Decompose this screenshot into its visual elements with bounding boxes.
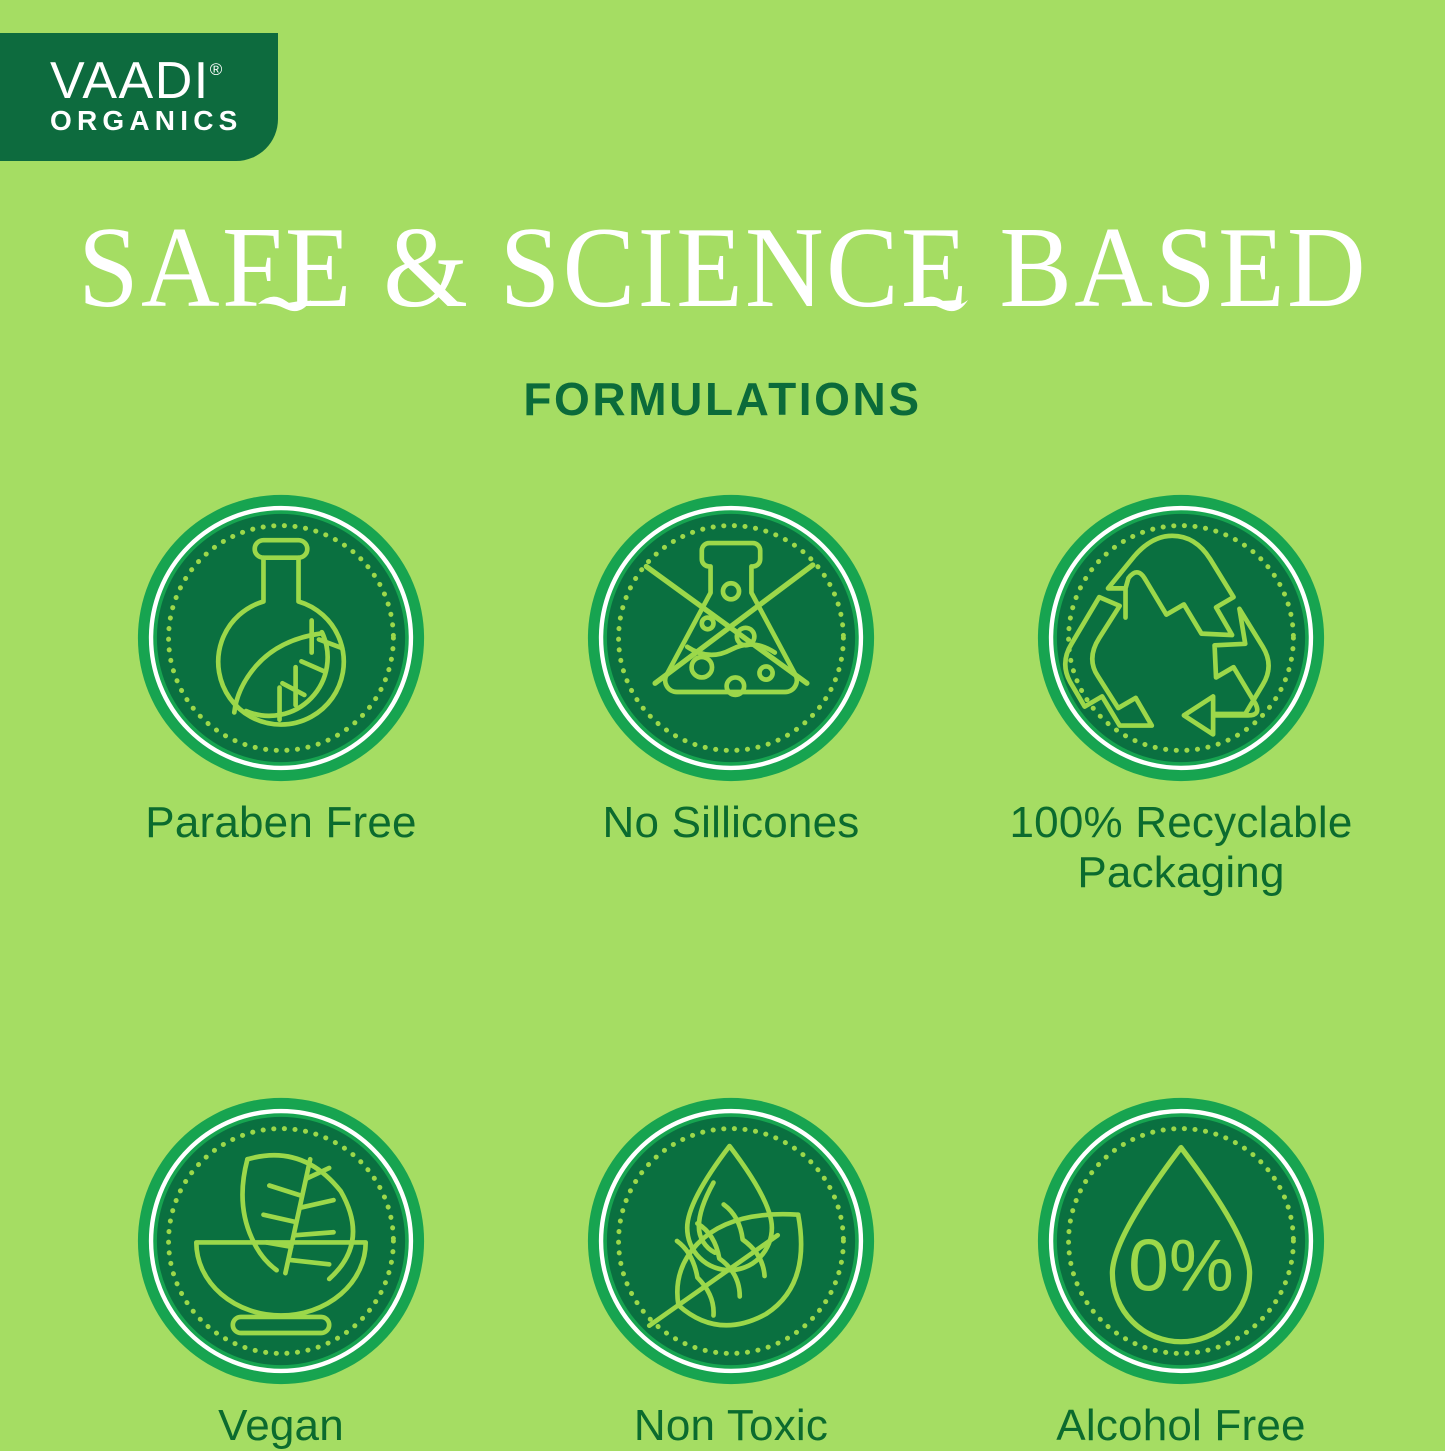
poster-canvas: VAADI® ORGANICS SAFE & SCIENCE BASED FOR… (0, 0, 1445, 1445)
feature-label: Paraben Free (145, 798, 416, 847)
headline-text: SAFE & SCIENCE BASED (78, 218, 1368, 330)
feature-label: Alcohol Free (1056, 1401, 1305, 1450)
feature-grid: Paraben Free (0, 492, 1445, 1451)
subheadline: FORMULATIONS (0, 372, 1445, 426)
brand-subname: ORGANICS (50, 105, 243, 136)
feature-paraben-free[interactable]: Paraben Free (56, 492, 506, 898)
feature-label-line2: Packaging (1077, 848, 1284, 897)
feature-label: Non Toxic (634, 1401, 828, 1450)
brand-logo: VAADI® ORGANICS (0, 33, 278, 161)
headline-graphic: SAFE & SCIENCE BASED (53, 218, 1393, 330)
zero-percent-text: 0% (1128, 1226, 1234, 1307)
registered-trademark-icon: ® (210, 61, 223, 78)
flask-leaf-icon (135, 492, 427, 784)
feature-non-toxic[interactable]: Non Toxic (506, 1095, 956, 1450)
feature-recyclable-packaging[interactable]: 100% Recyclable Packaging (956, 492, 1406, 898)
feature-row-1: Paraben Free (0, 492, 1445, 898)
feature-no-sillicones[interactable]: No Sillicones (506, 492, 956, 898)
feature-label: No Sillicones (603, 798, 860, 847)
droplet-zero-percent-icon: 0% (1035, 1095, 1327, 1387)
brand-name-row: VAADI® (0, 57, 278, 106)
flask-crossed-out-icon (585, 492, 877, 784)
feature-label: 100% Recyclable Packaging (1010, 798, 1353, 898)
brand-name: VAADI (50, 57, 210, 106)
feature-label: Vegan (218, 1401, 344, 1450)
feature-row-2: Vegan (0, 1095, 1445, 1450)
feature-label-line1: 100% Recyclable (1010, 798, 1353, 847)
feature-alcohol-free[interactable]: 0% Alcohol Free (956, 1095, 1406, 1450)
mortar-bowl-leaf-icon (135, 1095, 427, 1387)
recycle-icon (1035, 492, 1327, 784)
headline-container: SAFE & SCIENCE BASED (0, 218, 1445, 330)
brand-subname-row: ORGANICS (0, 106, 278, 137)
feature-vegan[interactable]: Vegan (56, 1095, 506, 1450)
droplet-leaf-icon (585, 1095, 877, 1387)
